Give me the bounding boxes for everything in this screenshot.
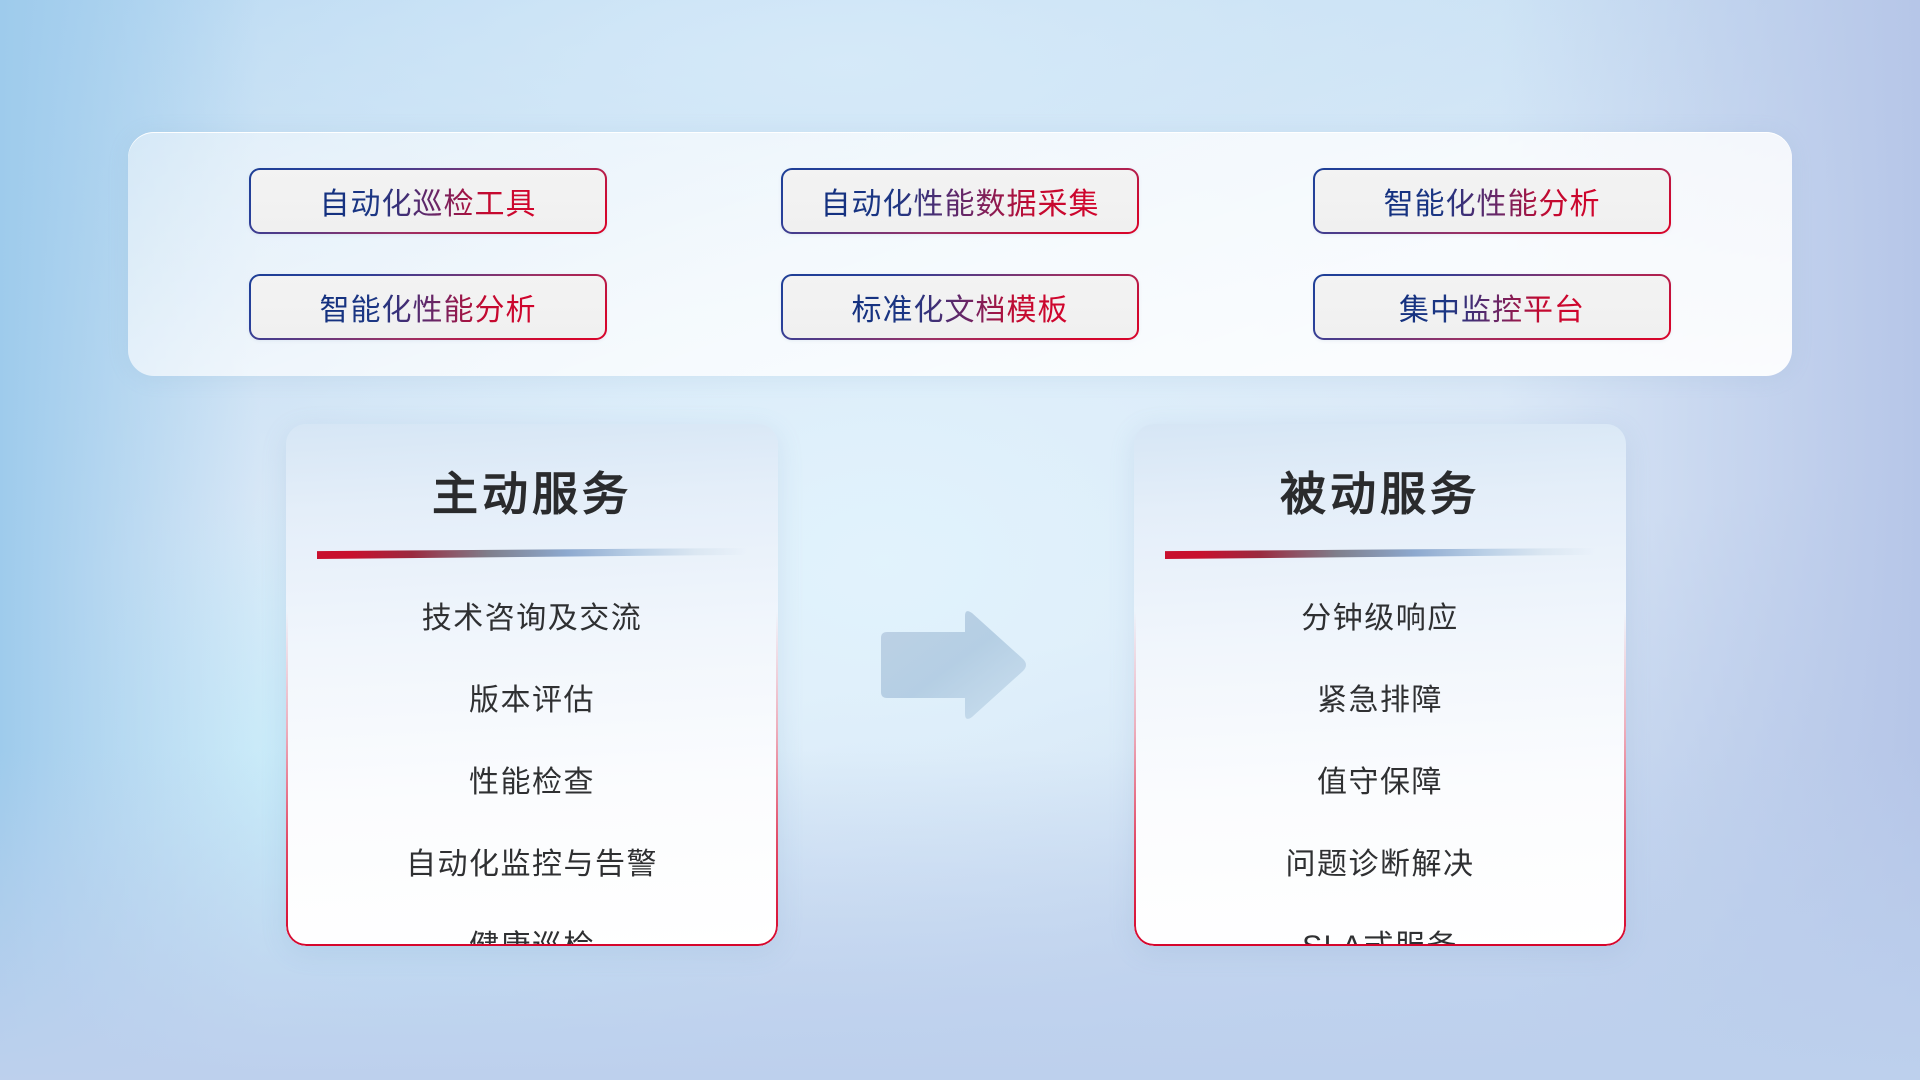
service-list-active: 技术咨询及交流 版本评估 性能检查 自动化监控与告警 健康巡检 [286,559,778,946]
capability-tag-label: 标准化文档模板 [852,285,1069,329]
capability-tag-6[interactable]: 集中监控平台 [1313,274,1671,340]
arrow-right-icon [871,604,1029,726]
service-list-item: 分钟级响应 [1134,593,1626,637]
capability-tag-5[interactable]: 标准化文档模板 [781,274,1139,340]
capability-tag-2[interactable]: 自动化性能数据采集 [781,168,1139,234]
card-title-active: 主动服务 [286,424,778,524]
capability-tag-label: 自动化性能数据采集 [821,179,1100,223]
capability-tag-label: 智能化性能分析 [1384,179,1601,223]
service-list-passive: 分钟级响应 紧急排障 值守保障 问题诊断解决 SLA式服务 [1134,559,1626,946]
service-list-item: 版本评估 [286,675,778,719]
service-list-item: 性能检查 [286,757,778,801]
card-title-passive: 被动服务 [1134,424,1626,524]
capability-tag-label: 集中监控平台 [1399,285,1585,329]
service-card-active: 主动服务 技术咨询及交流 版本评估 性能检查 自动化监控与告警 健康巡检 [286,424,778,946]
capability-tag-label: 自动化巡检工具 [320,179,537,223]
service-list-item: 技术咨询及交流 [286,593,778,637]
capability-tag-label: 智能化性能分析 [320,285,537,329]
capability-tag-1[interactable]: 自动化巡检工具 [249,168,607,234]
service-list-item: 值守保障 [1134,757,1626,801]
capability-tag-panel: 自动化巡检工具 自动化性能数据采集 智能化性能分析 智能化性能分析 标准化文档模… [128,132,1792,376]
card-divider-active [317,548,747,559]
slide-canvas: 自动化巡检工具 自动化性能数据采集 智能化性能分析 智能化性能分析 标准化文档模… [0,0,1920,1080]
service-card-passive: 被动服务 分钟级响应 紧急排障 值守保障 问题诊断解决 SLA式服务 [1134,424,1626,946]
service-list-item: 紧急排障 [1134,675,1626,719]
card-divider-passive [1165,548,1595,559]
service-list-item: 健康巡检 [286,921,778,946]
capability-tag-3[interactable]: 智能化性能分析 [1313,168,1671,234]
service-list-item: 问题诊断解决 [1134,839,1626,883]
service-list-item: SLA式服务 [1134,921,1626,946]
capability-tag-4[interactable]: 智能化性能分析 [249,274,607,340]
service-list-item: 自动化监控与告警 [286,839,778,883]
